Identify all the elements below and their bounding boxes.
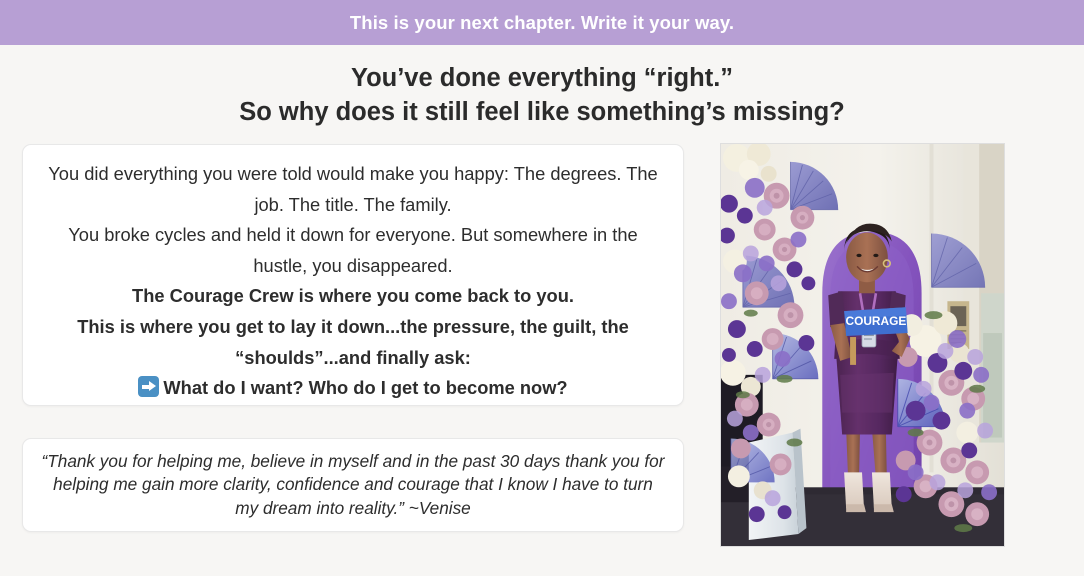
body-cta-text: What do I want? Who do I get to become n… (163, 377, 567, 398)
hero-photo: COURAGE (720, 143, 1005, 547)
page-title: You’ve done everything “right.” So why d… (0, 61, 1084, 129)
body-paragraph-2: You broke cycles and held it down for ev… (39, 220, 667, 281)
top-banner: This is your next chapter. Write it your… (0, 0, 1084, 45)
page-title-line-2: So why does it still feel like something… (0, 95, 1084, 129)
courage-sign-text: COURAGE (846, 314, 907, 328)
hero-photo-illustration: COURAGE (721, 144, 1004, 546)
right-arrow-icon (138, 376, 159, 397)
body-cta-line: What do I want? Who do I get to become n… (39, 373, 667, 404)
testimonial-quote: “Thank you for helping me, believe in my… (41, 450, 665, 521)
body-paragraph-4: This is where you get to lay it down...t… (39, 312, 667, 373)
promo-page: This is your next chapter. Write it your… (0, 0, 1084, 576)
body-copy-card: You did everything you were told would m… (22, 144, 684, 406)
banner-text: This is your next chapter. Write it your… (350, 12, 734, 34)
page-title-line-1: You’ve done everything “right.” (0, 61, 1084, 95)
body-paragraph-3: The Courage Crew is where you come back … (39, 281, 667, 312)
testimonial-card: “Thank you for helping me, believe in my… (22, 438, 684, 532)
body-paragraph-1: You did everything you were told would m… (39, 159, 667, 220)
